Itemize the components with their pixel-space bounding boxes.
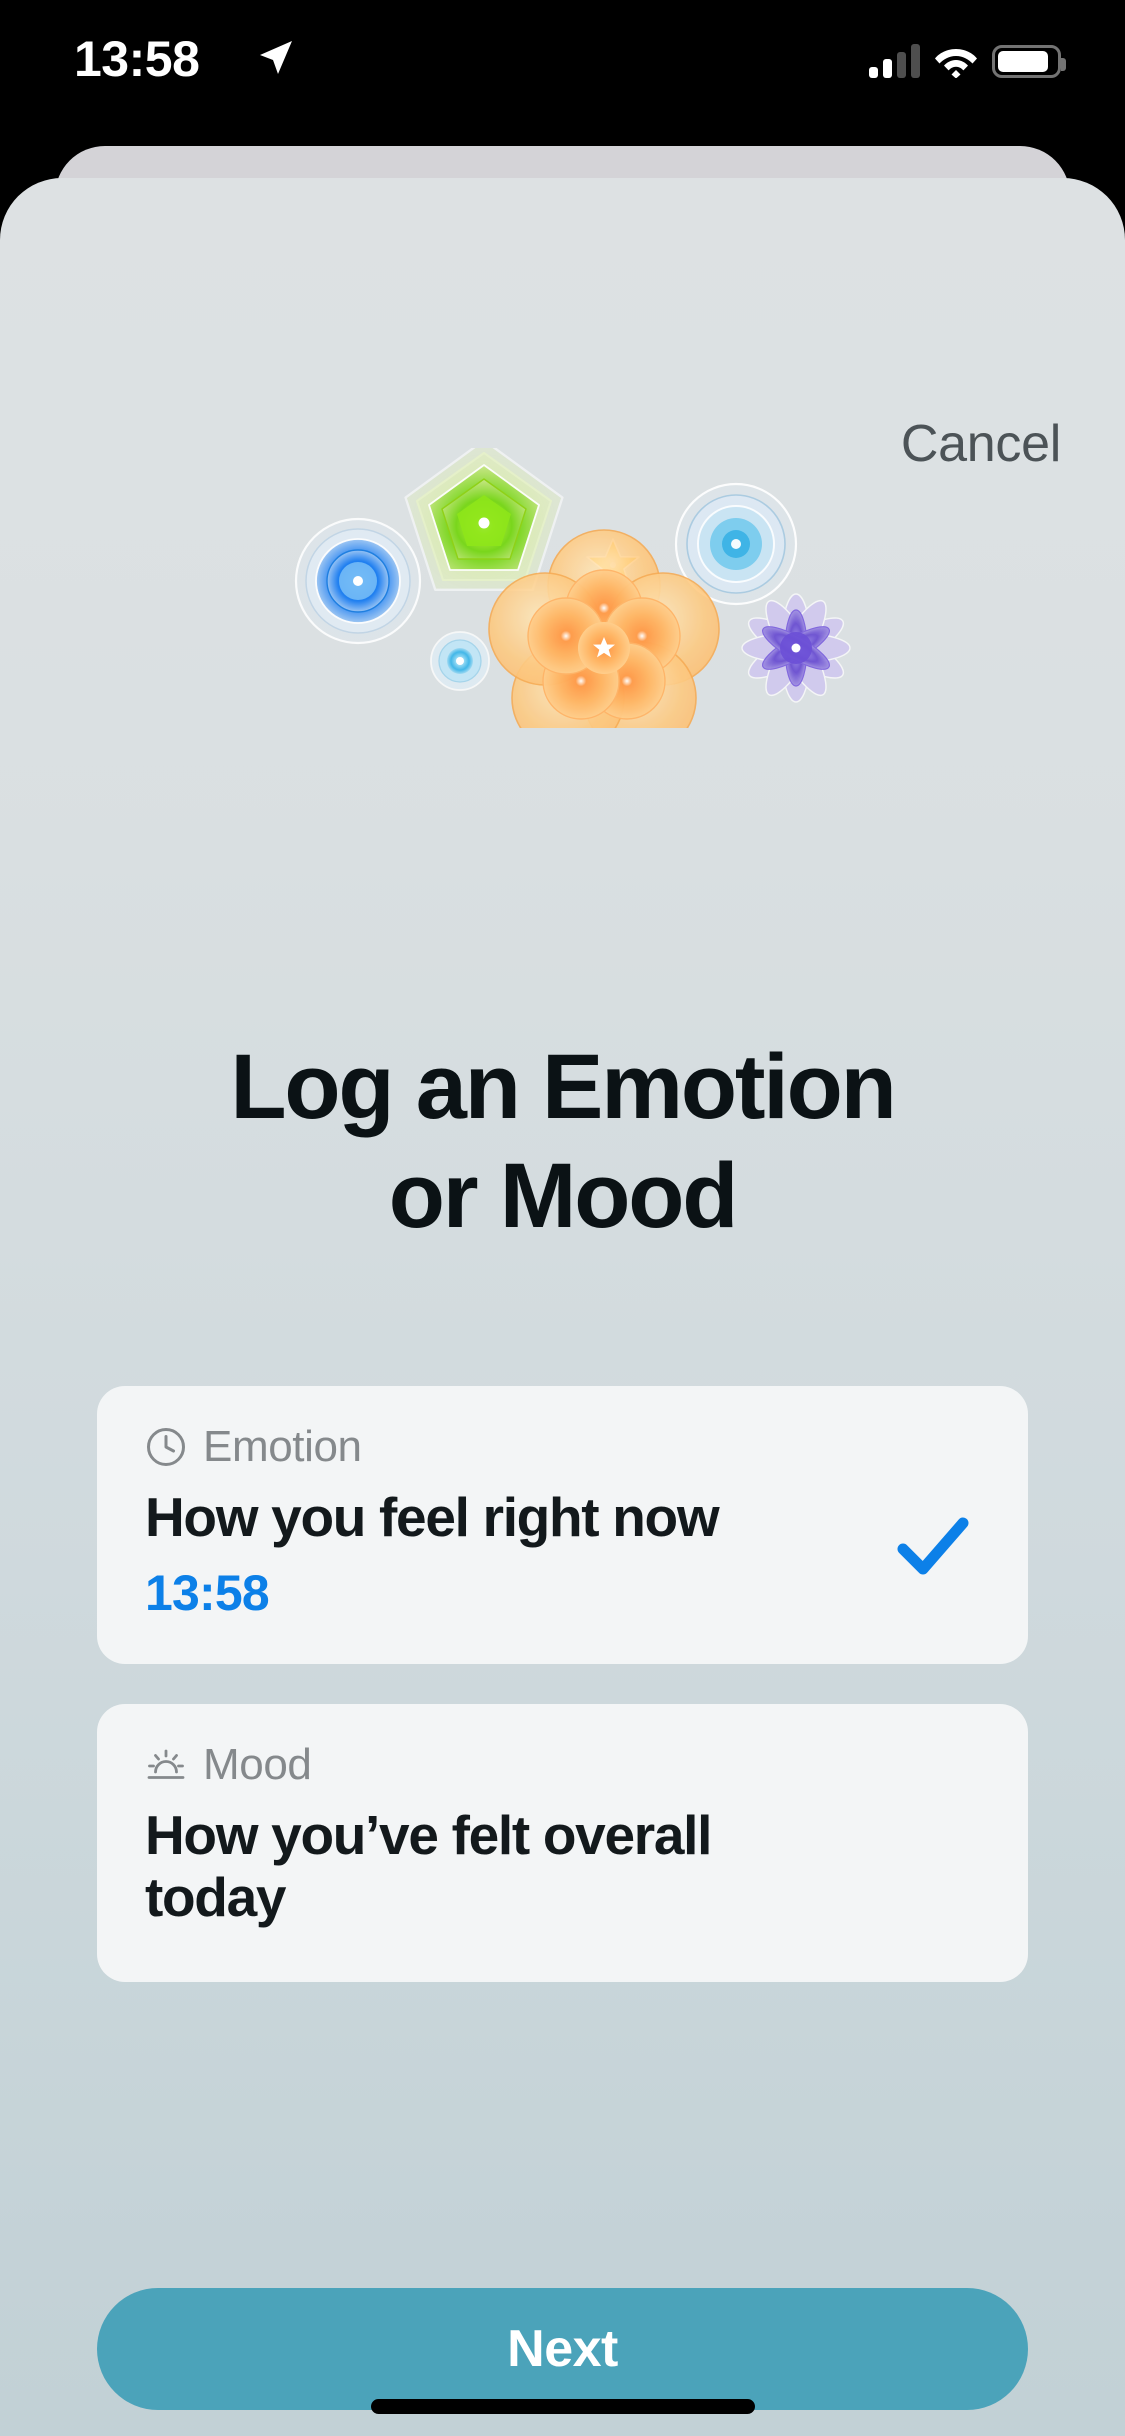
option-card-emotion[interactable]: Emotion How you feel right now 13:58 [97, 1386, 1028, 1664]
option-card-mood-description: How you’ve felt overall today [145, 1804, 845, 1928]
cancel-button[interactable]: Cancel [901, 414, 1061, 474]
option-card-emotion-time: 13:58 [145, 1564, 988, 1622]
option-card-emotion-header: Emotion [145, 1422, 988, 1472]
page-title-line-1: Log an Emotion [0, 1033, 1125, 1142]
status-bar: 13:58 [0, 0, 1125, 118]
flower-cyan-small [431, 632, 489, 690]
flower-blue [296, 519, 420, 643]
log-emotion-sheet: Cancel [0, 178, 1125, 2436]
emotion-flowers-illustration [0, 448, 1125, 728]
flower-purple [742, 594, 851, 703]
option-card-mood-header: Mood [145, 1740, 988, 1790]
sunrise-icon [145, 1744, 187, 1786]
battery-icon [992, 45, 1061, 78]
checkmark-icon [890, 1504, 976, 1590]
log-type-options: Emotion How you feel right now 13:58 [97, 1386, 1028, 2022]
wifi-icon [934, 44, 978, 78]
option-card-mood[interactable]: Mood How you’ve felt overall today [97, 1704, 1028, 1982]
next-button[interactable]: Next [97, 2288, 1028, 2410]
cellular-bars-icon [869, 44, 920, 78]
option-card-emotion-kind: Emotion [203, 1422, 362, 1472]
status-bar-time: 13:58 [74, 30, 199, 88]
flower-green [406, 448, 563, 590]
location-arrow-icon [255, 38, 295, 78]
clock-icon [145, 1426, 187, 1468]
status-bar-indicators [869, 36, 1061, 78]
next-button-label: Next [507, 2319, 618, 2379]
home-indicator[interactable] [371, 2399, 755, 2414]
option-card-mood-kind: Mood [203, 1740, 311, 1790]
page-title-line-2: or Mood [0, 1142, 1125, 1251]
page-title: Log an Emotion or Mood [0, 1033, 1125, 1250]
phone-screen: 13:58 Cancel [0, 0, 1125, 2436]
option-card-emotion-description: How you feel right now [145, 1486, 845, 1548]
